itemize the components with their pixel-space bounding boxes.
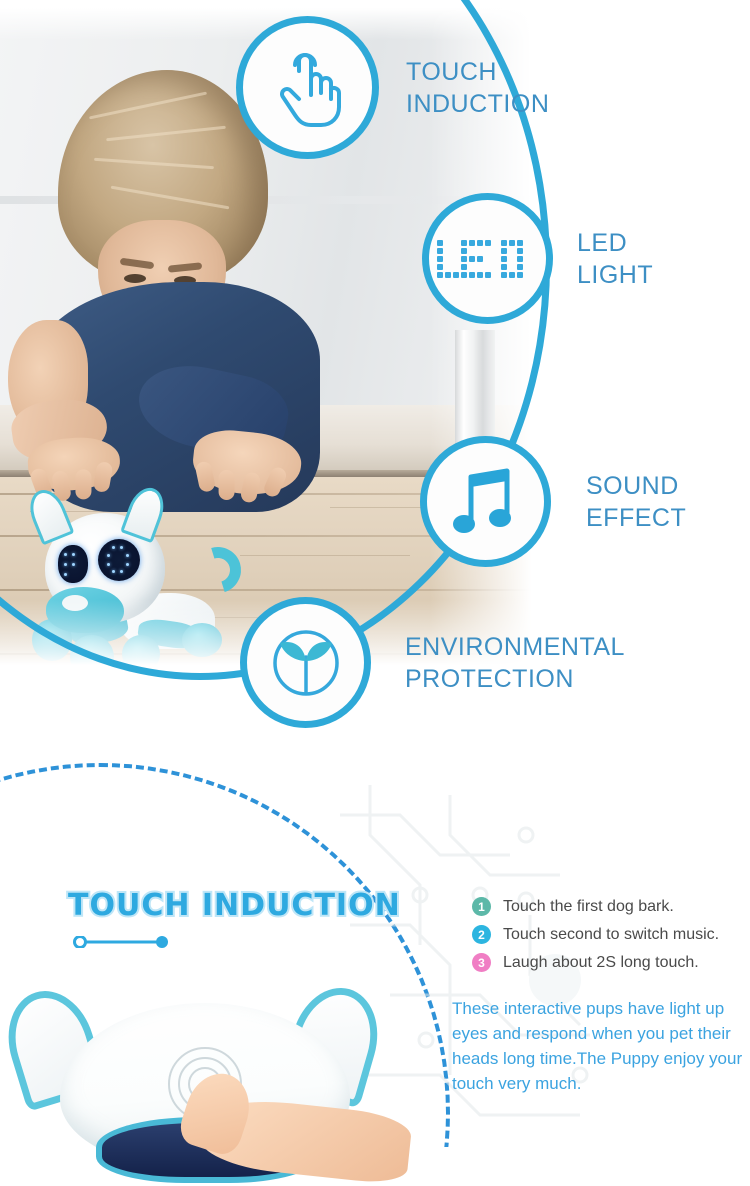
sprout-leaf-icon [270,627,342,699]
description-text: These interactive pups have light up eye… [452,997,748,1097]
feature-label: TOUCH INDUCTION [406,56,549,120]
feature-label: SOUND EFFECT [586,470,686,534]
step-badge-2: 2 [472,925,491,944]
headline-circuit-deco [72,936,177,948]
music-note-icon [453,467,519,537]
feature-sound-effect[interactable]: SOUND EFFECT [420,436,686,567]
led-matrix-icon [437,240,539,278]
feature-label: ENVIRONMENTAL PROTECTION [405,631,625,695]
list-item: 2 Touch second to switch music. [472,925,750,944]
feature-icon-circle [422,193,553,324]
feature-led-light[interactable]: LED LIGHT [422,193,653,324]
hand-touch-icon [271,49,345,127]
product-feature-page: TOUCH INDUCTION LED LIGHT [0,0,750,1147]
feature-icon-circle [236,16,379,159]
feature-label: LED LIGHT [577,227,653,291]
step-text: Touch the first dog bark. [503,898,674,916]
top-feature-section: TOUCH INDUCTION LED LIGHT [0,0,750,740]
section-headline: TOUCH INDUCTION [68,888,401,923]
step-badge-1: 1 [472,897,491,916]
instruction-steps: 1 Touch the first dog bark. 2 Touch seco… [472,897,750,981]
step-text: Touch second to switch music. [503,926,719,944]
feature-environmental-protection[interactable]: ENVIRONMENTAL PROTECTION [240,597,625,728]
list-item: 3 Laugh about 2S long touch. [472,953,750,972]
robot-head-illustration [0,985,470,1147]
feature-touch-induction[interactable]: TOUCH INDUCTION [236,16,549,159]
list-item: 1 Touch the first dog bark. [472,897,750,916]
step-text: Laugh about 2S long touch. [503,954,699,972]
step-badge-3: 3 [472,953,491,972]
feature-icon-circle [420,436,551,567]
feature-icon-circle [240,597,371,728]
